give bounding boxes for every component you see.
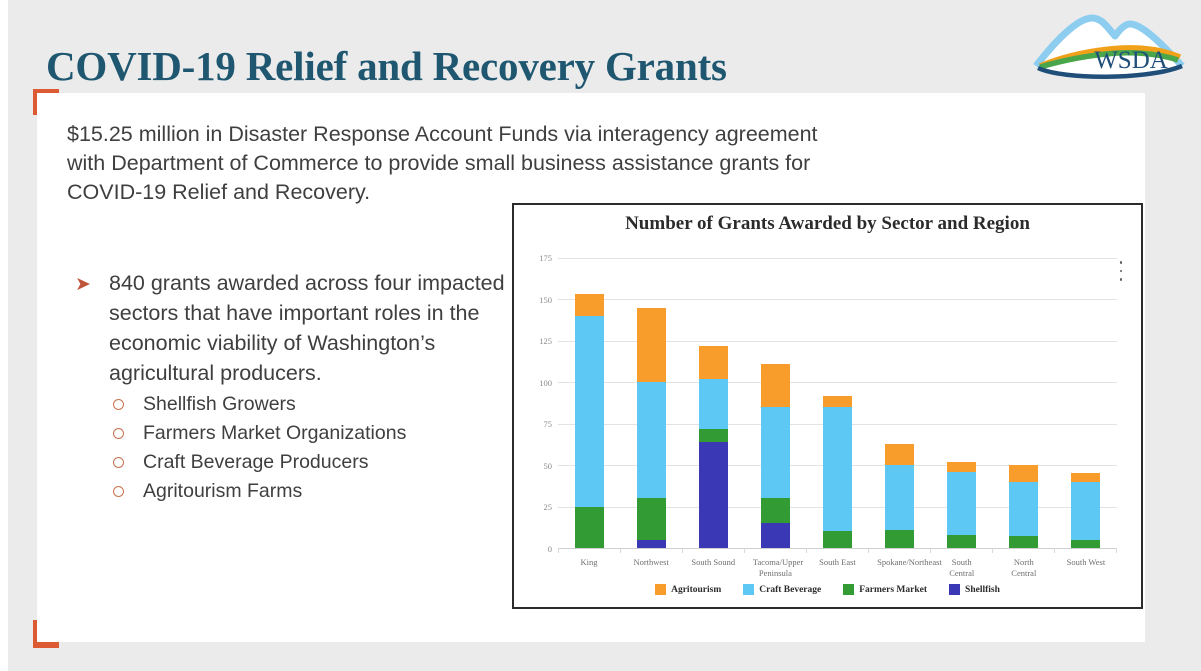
bar-slot: Spokane/Northeast bbox=[869, 258, 931, 548]
x-axis-ticks bbox=[558, 548, 1117, 553]
x-axis-tick-label: South Sound bbox=[691, 557, 736, 568]
stacked-bar[interactable]: South Sound bbox=[699, 258, 728, 548]
bullet-list: ➤ 840 grants awarded across four impacte… bbox=[67, 268, 517, 506]
intro-line-2: with Department of Commerce to provide s… bbox=[67, 149, 1047, 178]
bar-segment-craft-beverage bbox=[637, 382, 666, 498]
bar-segment-agritourism bbox=[947, 462, 976, 472]
y-axis-tick-label: 125 bbox=[539, 336, 552, 346]
page-title: COVID-19 Relief and Recovery Grants bbox=[46, 43, 727, 90]
bar-slot: Tacoma/Upper Peninsula bbox=[744, 258, 806, 548]
bar-slot: North Central bbox=[993, 258, 1055, 548]
bar-slot: South East bbox=[806, 258, 868, 548]
bullet-main-label: 840 grants awarded across four impacted … bbox=[109, 268, 517, 388]
stacked-bar[interactable]: Tacoma/Upper Peninsula bbox=[761, 258, 790, 548]
list-item: Farmers Market Organizations bbox=[67, 419, 517, 448]
bar-slot: King bbox=[558, 258, 620, 548]
bar-segment-farmers-market bbox=[1071, 540, 1100, 548]
legend-item[interactable]: Craft Beverage bbox=[743, 584, 821, 595]
intro-line-1: $15.25 million in Disaster Response Acco… bbox=[67, 120, 1047, 149]
x-axis-tick bbox=[682, 548, 744, 553]
bar-segment-craft-beverage bbox=[761, 407, 790, 498]
x-axis-tick bbox=[992, 548, 1054, 553]
x-axis-tick-label: North Central bbox=[1001, 557, 1046, 579]
bar-segment-farmers-market bbox=[1009, 536, 1038, 548]
bar-segment-farmers-market bbox=[823, 531, 852, 548]
bar-segment-farmers-market bbox=[947, 535, 976, 548]
x-axis-tick bbox=[558, 548, 620, 553]
x-axis-tick bbox=[868, 548, 930, 553]
legend-item[interactable]: Shellfish bbox=[949, 584, 1000, 595]
list-item: Shellfish Growers bbox=[67, 390, 517, 419]
y-axis-tick-label: 100 bbox=[539, 378, 552, 388]
stacked-bar[interactable]: King bbox=[575, 258, 604, 548]
wsda-logo: WSDA bbox=[1030, 10, 1190, 84]
bar-segment-shellfish bbox=[699, 442, 728, 548]
y-axis-tick-label: 0 bbox=[548, 544, 552, 554]
legend-label: Craft Beverage bbox=[759, 585, 821, 595]
x-axis-tick bbox=[806, 548, 868, 553]
x-axis-tick-label: Tacoma/Upper Peninsula bbox=[753, 557, 798, 579]
intro-line-3: COVID-19 Relief and Recovery. bbox=[67, 178, 547, 207]
bar-slot: South West bbox=[1055, 258, 1117, 548]
arrow-bullet-icon: ➤ bbox=[75, 270, 91, 300]
bar-segment-farmers-market bbox=[637, 498, 666, 539]
bar-segment-shellfish bbox=[637, 540, 666, 548]
bar-slot: Northwest bbox=[620, 258, 682, 548]
bar-segment-agritourism bbox=[885, 444, 914, 466]
legend-swatch bbox=[655, 584, 666, 595]
bar-slot: South Central bbox=[931, 258, 993, 548]
legend-swatch bbox=[843, 584, 854, 595]
stacked-bar[interactable]: North Central bbox=[1009, 258, 1038, 548]
x-axis-tick-label: South West bbox=[1063, 557, 1108, 568]
legend-label: Farmers Market bbox=[859, 585, 927, 595]
stacked-bar[interactable]: South West bbox=[1071, 258, 1100, 548]
y-axis-tick-label: 150 bbox=[539, 295, 552, 305]
bar-segment-craft-beverage bbox=[699, 379, 728, 429]
x-axis-tick-label: South East bbox=[815, 557, 860, 568]
x-axis-tick-label: King bbox=[567, 557, 612, 568]
chart-title: Number of Grants Awarded by Sector and R… bbox=[514, 213, 1141, 235]
legend-item[interactable]: Farmers Market bbox=[843, 584, 927, 595]
sub-bullet-label: Craft Beverage Producers bbox=[143, 451, 368, 473]
y-axis-tick-label: 75 bbox=[544, 419, 553, 429]
bar-segment-craft-beverage bbox=[575, 316, 604, 507]
bar-segment-farmers-market bbox=[761, 498, 790, 523]
list-item: Agritourism Farms bbox=[67, 477, 517, 506]
slide: COVID-19 Relief and Recovery Grants WSDA… bbox=[0, 0, 1201, 671]
x-axis-tick-label: Northwest bbox=[629, 557, 674, 568]
sub-bullet-list: Shellfish Growers Farmers Market Organiz… bbox=[67, 390, 517, 506]
bar-segment-craft-beverage bbox=[885, 465, 914, 530]
legend-item[interactable]: Agritourism bbox=[655, 584, 721, 595]
x-axis-tick bbox=[620, 548, 682, 553]
chart-legend: AgritourismCraft BeverageFarmers MarketS… bbox=[514, 584, 1141, 595]
bar-slot: South Sound bbox=[682, 258, 744, 548]
legend-label: Shellfish bbox=[965, 585, 1000, 595]
bar-segment-craft-beverage bbox=[1009, 482, 1038, 537]
stacked-bar[interactable]: South Central bbox=[947, 258, 976, 548]
y-axis-tick-label: 175 bbox=[539, 253, 552, 263]
stacked-bar[interactable]: Northwest bbox=[637, 258, 666, 548]
x-axis-tick bbox=[930, 548, 992, 553]
chart-card: Number of Grants Awarded by Sector and R… bbox=[512, 203, 1143, 609]
bar-segment-agritourism bbox=[699, 346, 728, 379]
bar-segment-farmers-market bbox=[885, 530, 914, 548]
plot-inner: 0255075100125150175 KingNorthwestSouth S… bbox=[558, 258, 1117, 548]
bar-segment-agritourism bbox=[761, 364, 790, 407]
bar-segment-agritourism bbox=[1071, 473, 1100, 481]
legend-label: Agritourism bbox=[671, 585, 721, 595]
circle-bullet-icon bbox=[113, 399, 124, 410]
bar-segment-craft-beverage bbox=[1071, 482, 1100, 540]
sub-bullet-label: Farmers Market Organizations bbox=[143, 422, 406, 444]
left-rail bbox=[0, 0, 8, 671]
y-axis-tick-label: 25 bbox=[544, 502, 553, 512]
y-axis-tick-label: 50 bbox=[544, 461, 553, 471]
sub-bullet-label: Agritourism Farms bbox=[143, 480, 302, 502]
bullet-main: ➤ 840 grants awarded across four impacte… bbox=[67, 268, 517, 388]
bar-segment-shellfish bbox=[761, 523, 790, 548]
x-axis-tick-label: South Central bbox=[939, 557, 984, 579]
x-axis-tick bbox=[744, 548, 806, 553]
circle-bullet-icon bbox=[113, 486, 124, 497]
legend-swatch bbox=[743, 584, 754, 595]
bar-segment-agritourism bbox=[823, 396, 852, 408]
stacked-bar[interactable]: Spokane/Northeast bbox=[885, 258, 914, 548]
plot-area: 0255075100125150175 KingNorthwestSouth S… bbox=[558, 258, 1117, 548]
circle-bullet-icon bbox=[113, 428, 124, 439]
bar-group: KingNorthwestSouth SoundTacoma/Upper Pen… bbox=[558, 258, 1117, 548]
bar-segment-agritourism bbox=[1009, 465, 1038, 482]
bar-segment-farmers-market bbox=[699, 429, 728, 442]
intro-paragraph: $15.25 million in Disaster Response Acco… bbox=[67, 120, 547, 207]
bar-segment-agritourism bbox=[637, 308, 666, 383]
legend-swatch bbox=[949, 584, 960, 595]
circle-bullet-icon bbox=[113, 457, 124, 468]
wsda-logo-graphic: WSDA bbox=[1030, 10, 1190, 84]
x-axis-tick bbox=[1054, 548, 1117, 553]
bar-segment-craft-beverage bbox=[823, 407, 852, 531]
sub-bullet-label: Shellfish Growers bbox=[143, 393, 296, 415]
wsda-wordmark: WSDA bbox=[1094, 47, 1168, 74]
stacked-bar[interactable]: South East bbox=[823, 258, 852, 548]
bar-segment-agritourism bbox=[575, 294, 604, 316]
bar-segment-craft-beverage bbox=[947, 472, 976, 535]
bar-segment-farmers-market bbox=[575, 507, 604, 548]
list-item: Craft Beverage Producers bbox=[67, 448, 517, 477]
x-axis-tick-label: Spokane/Northeast bbox=[877, 557, 922, 568]
